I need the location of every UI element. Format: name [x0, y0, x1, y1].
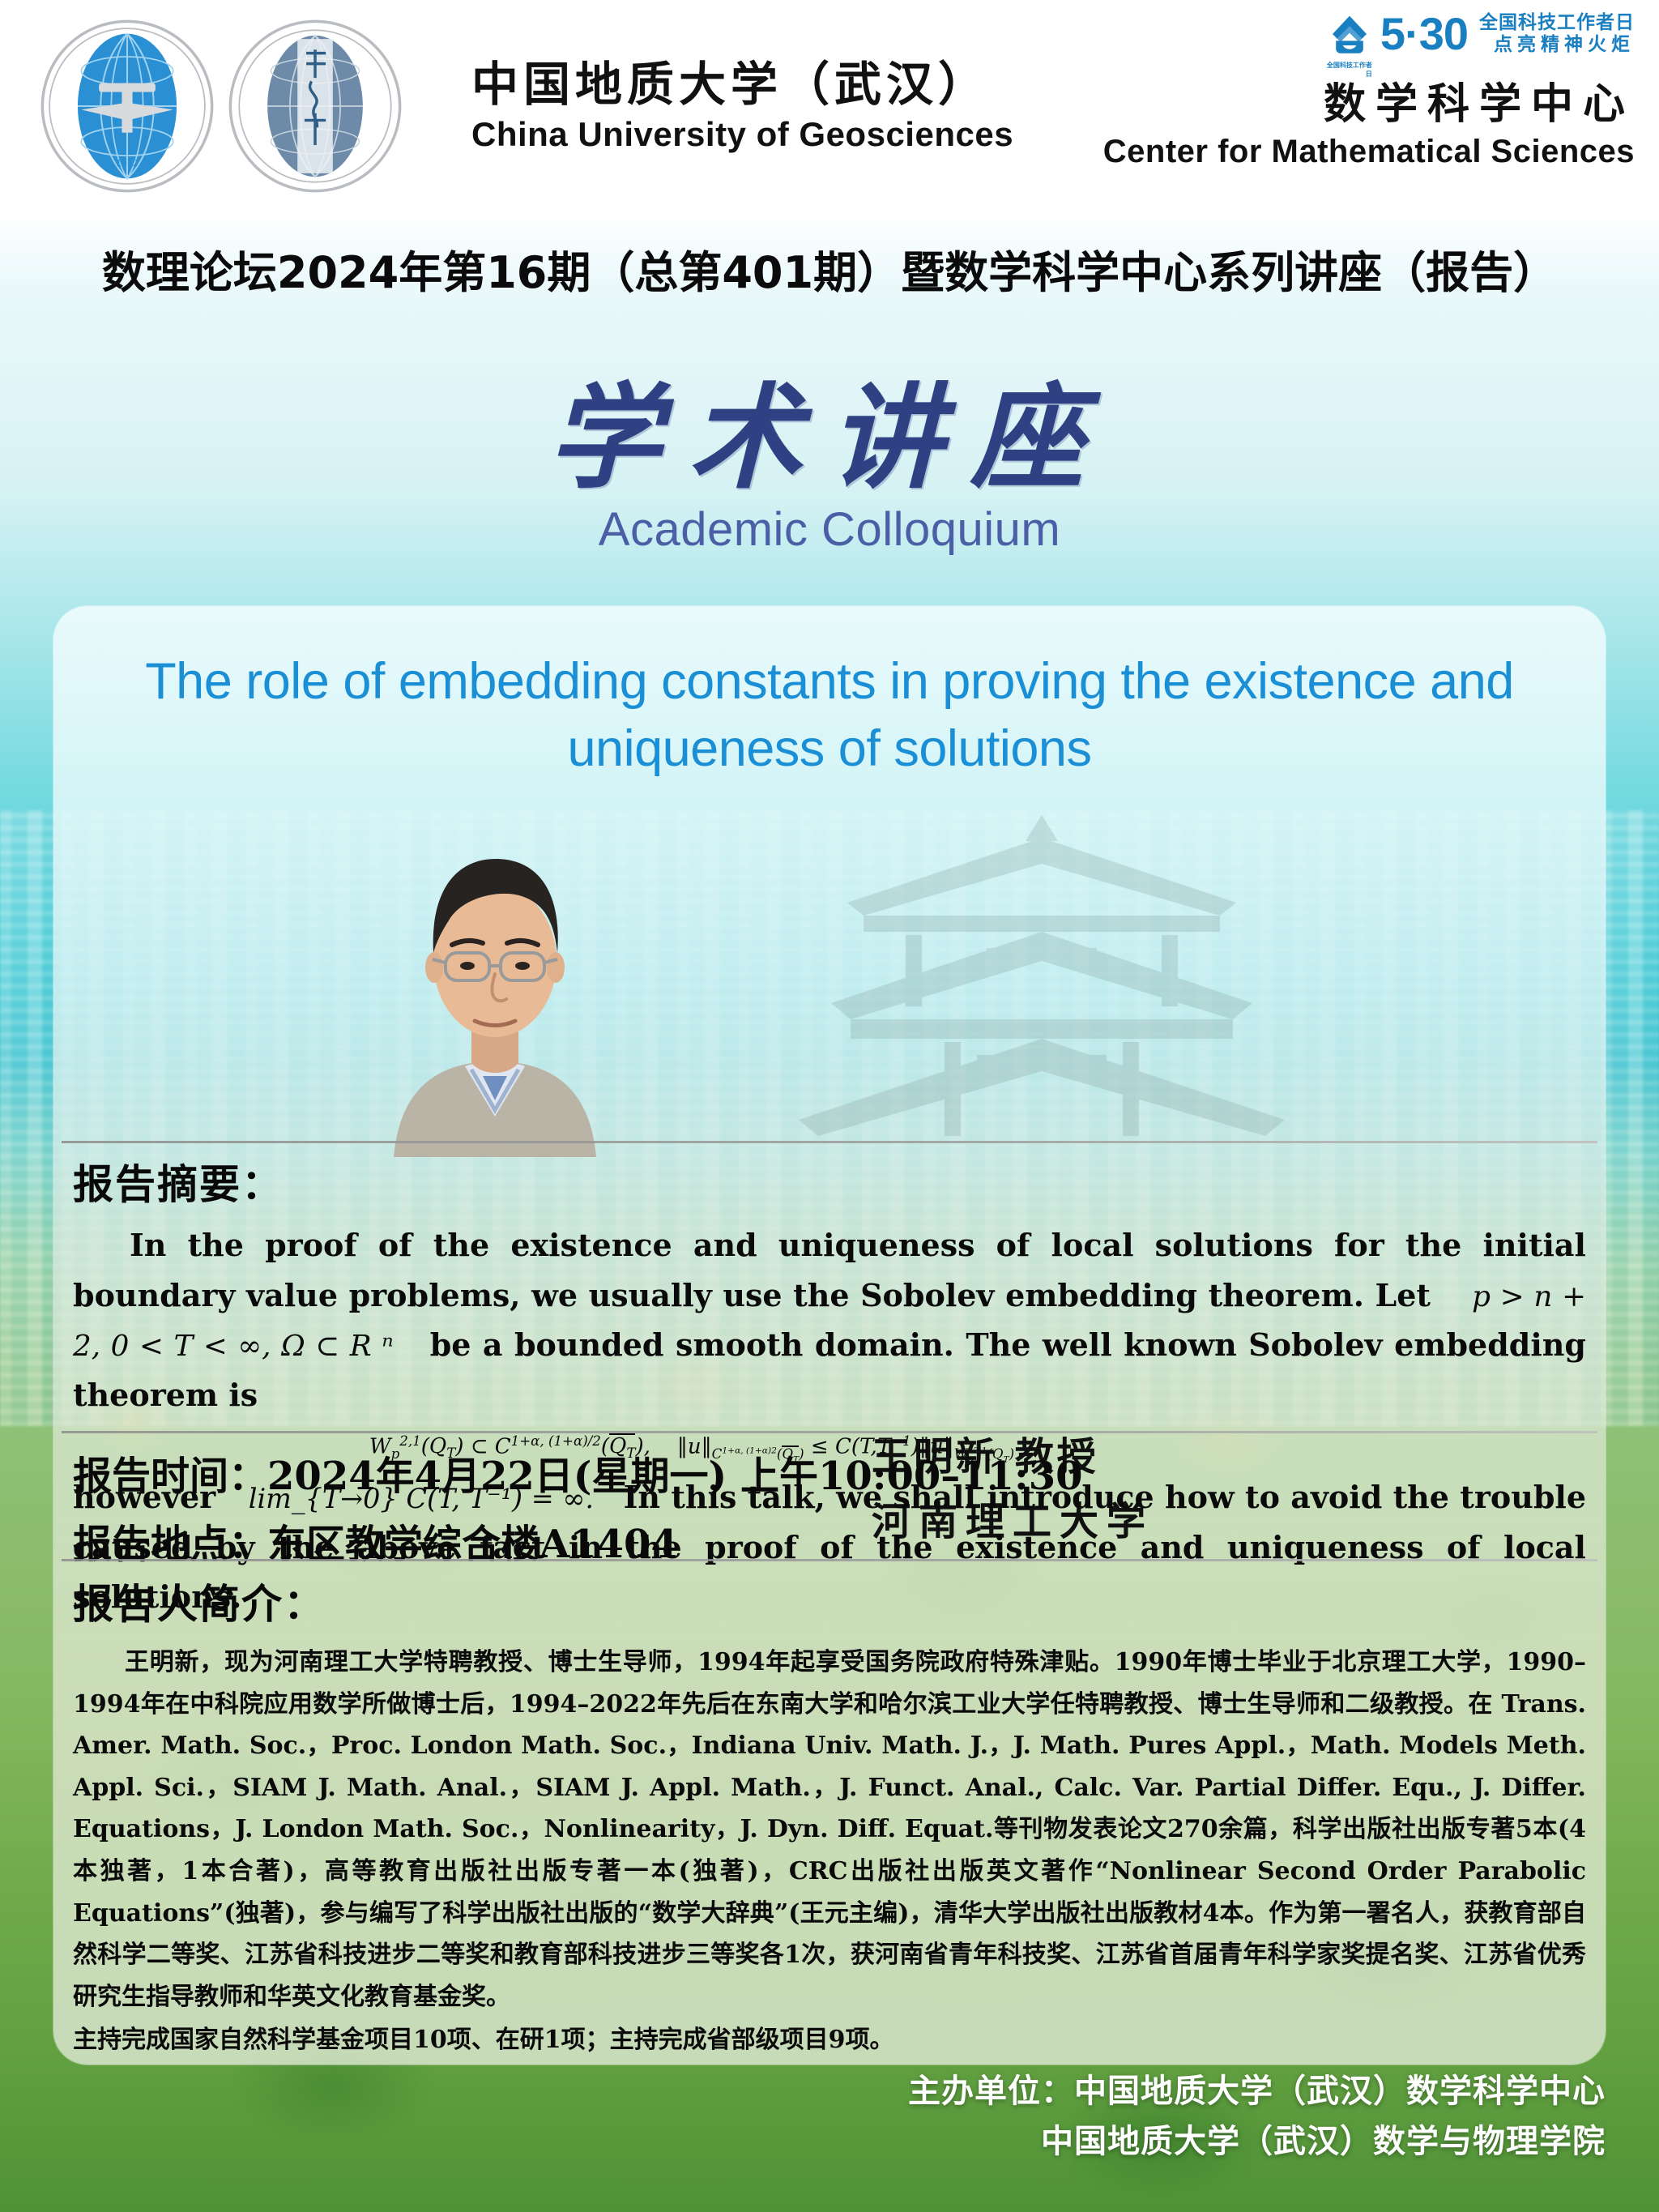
university-name-en: China University of Geosciences	[471, 115, 1013, 154]
abstract-divider-top	[53, 1141, 1606, 1143]
talk-time-label: 报告时间：	[73, 1454, 267, 1499]
bio-divider-top	[53, 1559, 1606, 1561]
organizer-line-1: 主办单位：中国地质大学（武汉）数学科学中心	[908, 2066, 1606, 2116]
torch-icon: 全国科技工作者日	[1327, 11, 1372, 57]
talk-time-row: 报告时间：2024年4月22日(星期一) 上午10:00–11:30	[73, 1444, 1586, 1501]
university-name-block: 中国地质大学（武汉） China University of Geoscienc…	[471, 18, 1013, 194]
torch-caption: 全国科技工作者日	[1327, 61, 1372, 79]
abstract-paragraph-1: In the proof of the existence and unique…	[73, 1220, 1586, 1420]
bio-text: 王明新，现为河南理工大学特聘教授、博士生导师，1994年起享受国务院政府特殊津贴…	[73, 1642, 1586, 2018]
header-logos: 1952	[39, 18, 1013, 194]
bio-text-secondary: 主持完成国家自然科学基金项目10项、在研1项；主持完成省部级项目9项。	[73, 2019, 1586, 2061]
speaker-photo-band	[53, 841, 1606, 1157]
campaign-slogan-line1: 全国科技工作者日	[1479, 12, 1635, 34]
abstract-text-1: In the proof of the existence and unique…	[73, 1227, 1586, 1313]
svg-text:1952: 1952	[116, 158, 139, 169]
details-divider-top	[53, 1431, 1606, 1433]
center-name-cn: 数学科学中心	[1103, 70, 1635, 130]
campaign-slogan: 全国科技工作者日 点亮精神火炬	[1479, 12, 1635, 56]
bio-section: 报告人简介： 王明新，现为河南理工大学特聘教授、博士生导师，1994年起享受国务…	[73, 1572, 1586, 2061]
bio-heading: 报告人简介：	[73, 1572, 1586, 1630]
organizer-footer: 主办单位：中国地质大学（武汉）数学科学中心 中国地质大学（武汉）数学与物理学院	[908, 2066, 1606, 2167]
center-name-en: Center for Mathematical Sciences	[1103, 134, 1635, 170]
organizer-line-2: 中国地质大学（武汉）数学与物理学院	[908, 2116, 1606, 2167]
page-header: 1952	[0, 0, 1659, 220]
china-university-of-geosciences-seal-icon: 1952	[39, 18, 215, 194]
university-name-cn: 中国地质大学（武汉）	[471, 58, 1013, 111]
header-right-block: 全国科技工作者日 5·30 全国科技工作者日 点亮精神火炬 数学科学中心 Cen…	[1103, 11, 1635, 170]
campaign-slogan-line2: 点亮精神火炬	[1479, 34, 1635, 56]
details-section: 报告时间：2024年4月22日(星期一) 上午10:00–11:30 报告地点：…	[73, 1444, 1586, 1569]
school-of-mathematics-and-physics-seal-icon	[227, 18, 403, 194]
pagoda-illustration-icon	[750, 809, 1333, 1149]
content-card: The role of embedding constants in provi…	[53, 606, 1606, 2065]
series-title: 数理论坛2024年第16期（总第401期）暨数学科学中心系列讲座（报告）	[0, 237, 1659, 301]
poster-root: 1952	[0, 0, 1659, 2212]
calligraphy-title-en: Academic Colloquium	[0, 502, 1659, 557]
talk-title: The role of embedding constants in provi…	[134, 648, 1525, 783]
talk-time-value: 2024年4月22日(星期一) 上午10:00–11:30	[267, 1454, 1083, 1499]
abstract-heading: 报告摘要：	[73, 1152, 1586, 1211]
campaign-date: 5·30	[1380, 11, 1468, 57]
science-workers-day-logo: 全国科技工作者日 5·30 全国科技工作者日 点亮精神火炬	[1103, 11, 1635, 57]
calligraphy-title-cn: 学术讲座	[0, 347, 1659, 510]
speaker-portrait	[361, 809, 629, 1157]
